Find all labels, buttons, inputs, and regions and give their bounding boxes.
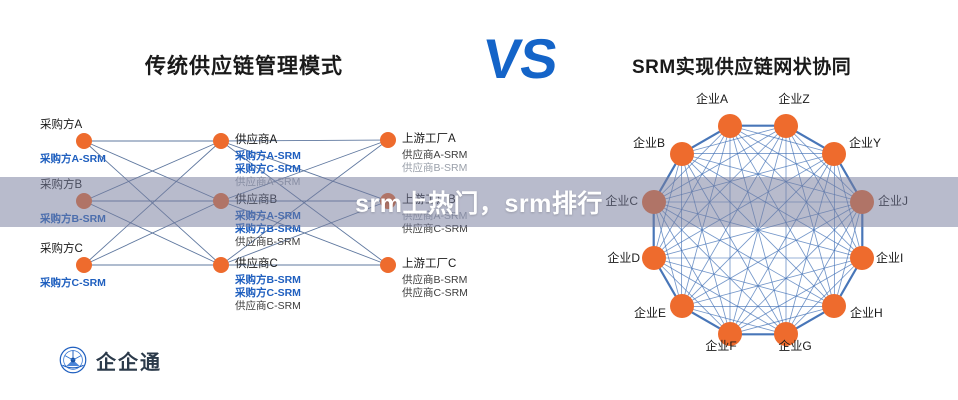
- enterprise-label: 企业I: [876, 249, 903, 266]
- node-label: 上游工厂C: [402, 258, 456, 272]
- overlay-banner-text: srm上热门，srm排行: [0, 177, 958, 227]
- node-sublabel: 供应商B-SRM: [235, 236, 301, 249]
- enterprise-node: [670, 294, 694, 318]
- circular-emblem-icon: [58, 345, 88, 375]
- node-sublabels: 采购方C-SRM: [40, 277, 106, 290]
- node-sublabel: 采购方A-SRM: [40, 153, 106, 166]
- enterprise-label: 企业E: [620, 304, 666, 321]
- node-dot: [213, 257, 229, 273]
- enterprise-node: [822, 142, 846, 166]
- enterprise-label: 企业B: [619, 134, 665, 151]
- node-label: 供应商C: [235, 258, 278, 272]
- node-sublabel: 采购方C-SRM: [40, 277, 106, 290]
- node-sublabel: 采购方C-SRM: [235, 287, 301, 300]
- node-dot: [380, 257, 396, 273]
- enterprise-label: 企业G: [773, 337, 817, 354]
- node-sublabels: 供应商A-SRM供应商B-SRM: [402, 149, 467, 175]
- enterprise-node: [670, 142, 694, 166]
- enterprise-node: [718, 114, 742, 138]
- node-dot: [380, 132, 396, 148]
- node-dot: [213, 133, 229, 149]
- node-sublabel: 供应商C-SRM: [235, 300, 301, 313]
- brand-name: 企企通: [96, 346, 162, 375]
- node-sublabel: 采购方C-SRM: [235, 163, 301, 176]
- enterprise-label: 企业Y: [849, 134, 881, 151]
- enterprise-label: 企业D: [594, 249, 640, 266]
- node-sublabel: 供应商A-SRM: [402, 149, 467, 162]
- node-sublabel: 供应商B-SRM: [402, 274, 468, 287]
- node-sublabel: 供应商B-SRM: [402, 162, 467, 175]
- enterprise-label: 企业Z: [772, 90, 816, 107]
- node-sublabel: 采购方A-SRM: [235, 150, 301, 163]
- node-sublabel: 供应商C-SRM: [402, 287, 468, 300]
- node-label: 采购方A: [40, 119, 82, 133]
- node-label: 上游工厂A: [402, 133, 456, 147]
- enterprise-label: 企业F: [699, 337, 743, 354]
- node-label: 采购方C: [40, 243, 83, 257]
- node-sublabels: 采购方A-SRM: [40, 153, 106, 166]
- node-sublabels: 供应商B-SRM供应商C-SRM: [402, 274, 468, 300]
- node-dot: [76, 133, 92, 149]
- enterprise-node: [642, 246, 666, 270]
- enterprise-node: [774, 114, 798, 138]
- brand-logo: 企企通: [58, 345, 162, 375]
- infographic-canvas: 传统供应链管理模式 VS SRM实现供应链网状协同 采购方A采购方A-SRM采购…: [0, 0, 958, 400]
- node-dot: [76, 257, 92, 273]
- node-sublabel: 采购方B-SRM: [235, 274, 301, 287]
- enterprise-label: 企业A: [690, 90, 734, 107]
- node-sublabels: 采购方B-SRM采购方C-SRM供应商C-SRM: [235, 274, 301, 313]
- node-label: 供应商A: [235, 134, 277, 148]
- enterprise-label: 企业H: [850, 304, 883, 321]
